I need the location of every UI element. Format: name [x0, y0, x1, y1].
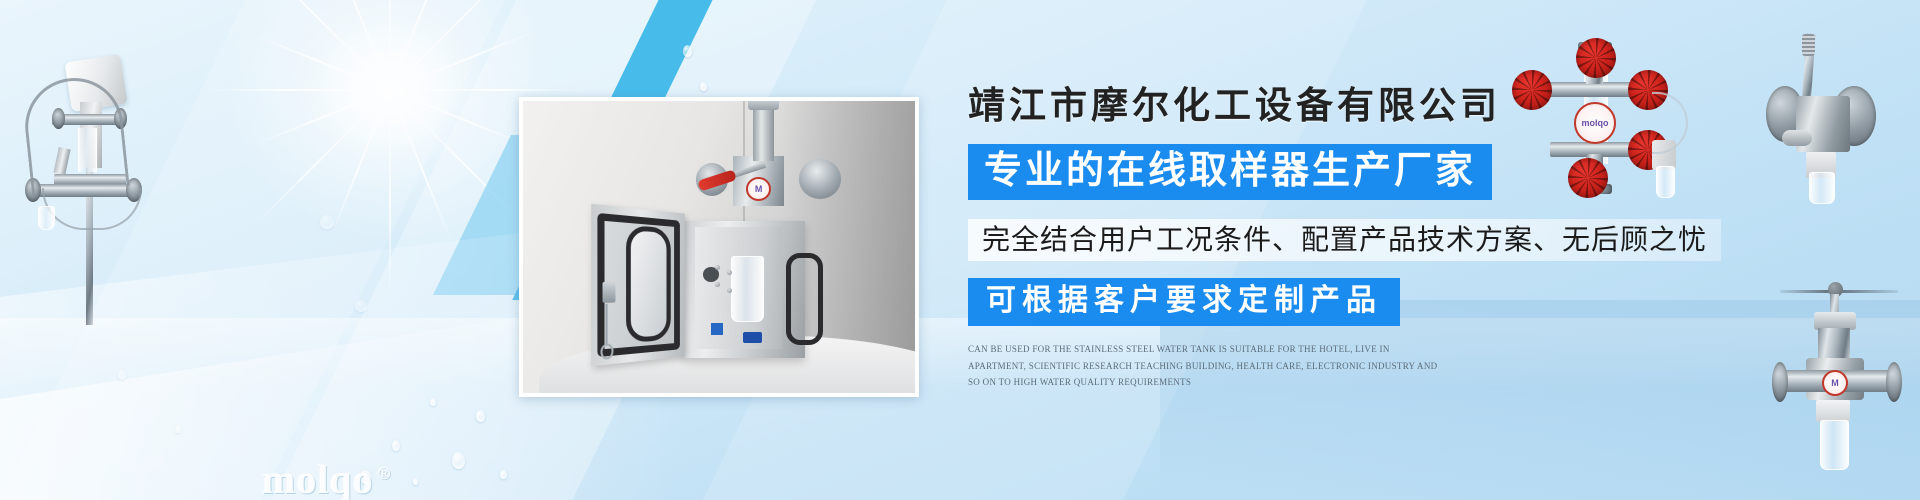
blue-label — [711, 323, 723, 335]
product-lever-valve — [1760, 34, 1900, 234]
product-cross-valve-manifold: molqo — [1500, 30, 1690, 210]
custom-product-badge: 可根据客户要求定制产品 — [968, 278, 1400, 326]
product-left-sampling-probe — [10, 28, 170, 328]
cabinet-door — [591, 204, 684, 366]
water-droplet-icon — [700, 82, 707, 91]
promo-banner: M 靖江市摩尔化工设备有限公司 专业的在线取样器生产厂家 完全结合用户工况条件、… — [0, 0, 1920, 500]
english-description: CAN BE USED FOR THE STAINLESS STEEL WATE… — [968, 341, 1438, 391]
product-photo: M — [523, 101, 915, 393]
water-droplet-icon — [320, 215, 334, 229]
red-handwheel-icon — [1568, 158, 1608, 198]
brand-stamp-icon: M — [746, 177, 771, 201]
brand-stamp-icon: molqo — [1574, 102, 1616, 144]
brand-watermark: molqo® — [262, 456, 391, 500]
water-droplet-icon — [500, 470, 507, 479]
key-ring — [600, 343, 613, 359]
red-handwheel-icon — [1512, 70, 1552, 110]
headline-badge: 专业的在线取样器生产厂家 — [968, 144, 1492, 200]
product-gate-valve: M — [1770, 278, 1910, 493]
cabinet-side-handle — [786, 253, 823, 345]
sample-bottle — [1820, 420, 1849, 470]
sample-bottle — [38, 206, 55, 230]
brand-stamp-icon: M — [1822, 370, 1848, 396]
water-droplet-icon — [430, 398, 436, 406]
registered-mark-icon: ® — [378, 464, 392, 483]
water-droplet-icon — [452, 452, 465, 469]
water-droplet-icon — [476, 410, 485, 422]
product-photo-card: M — [519, 97, 919, 397]
water-droplet-icon — [175, 425, 181, 433]
lever-grip — [1802, 34, 1815, 56]
sample-bottle — [1656, 166, 1675, 198]
red-handwheel-icon — [1576, 38, 1616, 78]
cabinet-port — [703, 267, 719, 282]
sample-bottle — [731, 256, 764, 322]
door-key — [605, 304, 607, 345]
sample-bottle — [1809, 172, 1835, 204]
brand-name: molqo — [262, 457, 374, 500]
door-latch — [602, 282, 615, 303]
water-droplet-icon — [413, 478, 418, 485]
sampling-valve-assembly: M — [703, 110, 828, 227]
subheadline: 完全结合用户工况条件、配置产品技术方案、无后顾之忧 — [968, 219, 1721, 261]
water-droplet-icon — [683, 45, 692, 57]
tubing — [1652, 92, 1688, 154]
water-droplet-icon — [392, 440, 400, 451]
door-window — [625, 224, 670, 343]
capillary-tube — [42, 188, 142, 230]
water-droplet-icon — [118, 370, 126, 380]
water-droplet-icon — [355, 300, 367, 312]
valve-port — [1782, 130, 1812, 146]
outlet-cap — [1816, 400, 1850, 422]
bottle-cap — [743, 332, 763, 344]
